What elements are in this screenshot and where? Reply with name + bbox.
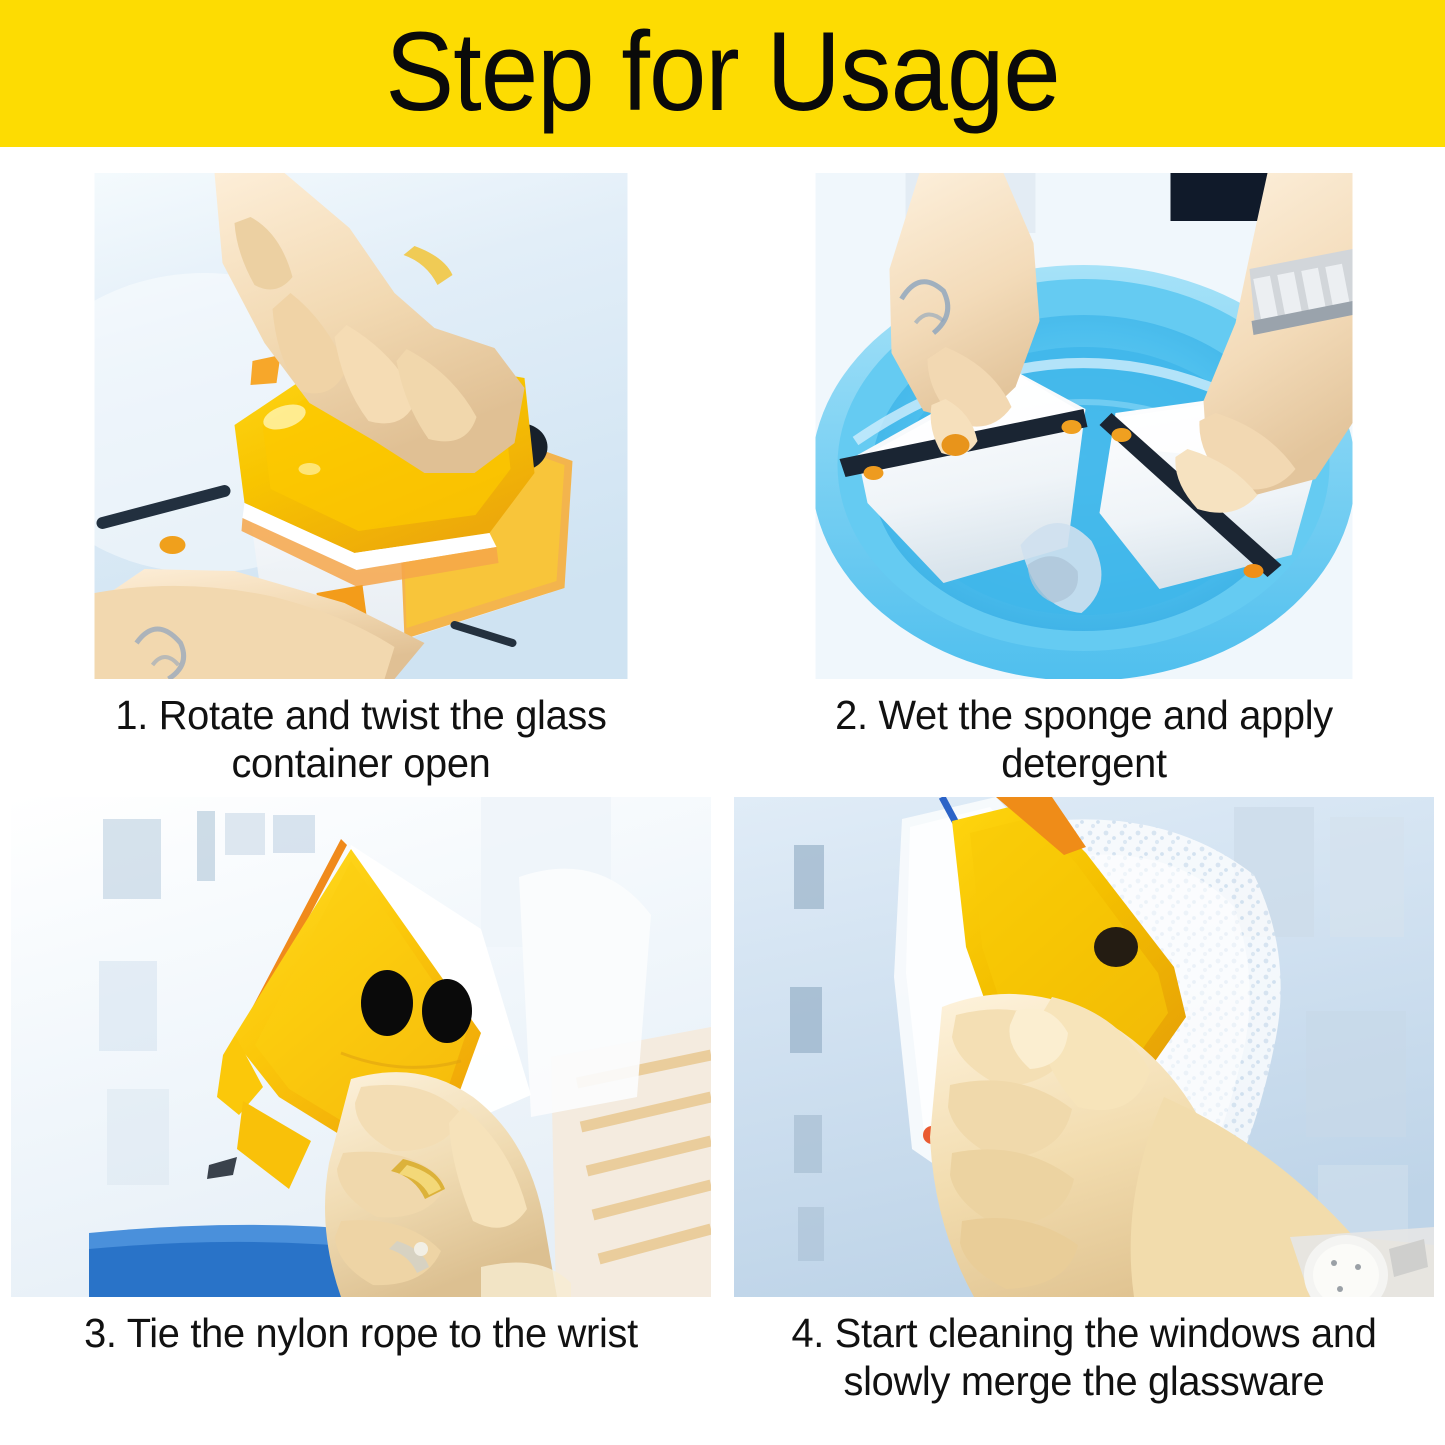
step-card-1: 1. Rotate and twist the glass container …	[0, 167, 722, 807]
step-caption-3: 3. Tie the nylon rope to the wrist	[11, 1309, 711, 1357]
step-card-3: 3. Tie the nylon rope to the wrist	[0, 797, 722, 1445]
step-caption-2: 2. Wet the sponge and apply detergent	[734, 691, 1434, 787]
step-card-4: 4. Start cleaning the windows and slowly…	[723, 797, 1445, 1445]
photo-wet-sponge-detergent	[816, 173, 1353, 679]
step-caption-1: 1. Rotate and twist the glass container …	[11, 691, 711, 787]
photo-clean-windows-merge	[734, 797, 1434, 1297]
steps-grid: 1. Rotate and twist the glass container …	[0, 147, 1445, 1445]
step-card-2: 2. Wet the sponge and apply detergent	[723, 167, 1445, 807]
header-banner: Step for Usage	[0, 0, 1445, 147]
photo-tie-nylon-rope	[11, 797, 711, 1297]
photo-rotate-twist-open	[95, 173, 628, 679]
page-title: Step for Usage	[385, 16, 1059, 128]
step-caption-4: 4. Start cleaning the windows and slowly…	[734, 1309, 1434, 1405]
